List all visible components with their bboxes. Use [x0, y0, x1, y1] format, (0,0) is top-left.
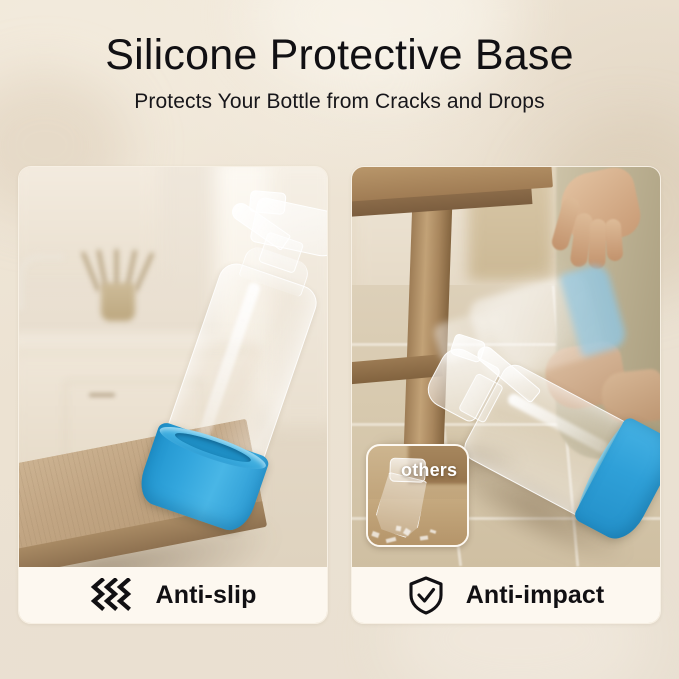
glass-shard [396, 526, 402, 532]
feature-panels: Anti-slip [18, 166, 661, 622]
zigzag-friction-icon [90, 578, 134, 612]
spray-nozzle [249, 190, 287, 215]
page-subtitle: Protects Your Bottle from Cracks and Dro… [0, 89, 679, 115]
panel-anti-slip: Anti-slip [18, 166, 328, 624]
caption-label-anti-slip: Anti-slip [156, 581, 257, 610]
cabinet-handle [89, 393, 115, 397]
photo-anti-impact: others [352, 167, 660, 567]
plant-pot [101, 283, 135, 321]
shield-check-icon [408, 575, 444, 615]
others-comparison-inset: others [366, 444, 469, 547]
faucet [19, 253, 64, 310]
room-background: others [352, 167, 660, 567]
caption-label-anti-impact: Anti-impact [466, 581, 605, 610]
caption-bar-anti-impact: Anti-impact [352, 567, 660, 623]
page-title: Silicone Protective Base [0, 30, 679, 80]
infographic-page: Silicone Protective Base Protects Your B… [0, 0, 679, 679]
inset-label-others: others [401, 460, 457, 481]
photo-anti-slip [19, 167, 327, 567]
caption-bar-anti-slip: Anti-slip [19, 567, 327, 623]
panel-anti-impact: others Anti-impact [351, 166, 661, 624]
header: Silicone Protective Base Protects Your B… [0, 30, 679, 115]
hand-finger [605, 218, 624, 261]
